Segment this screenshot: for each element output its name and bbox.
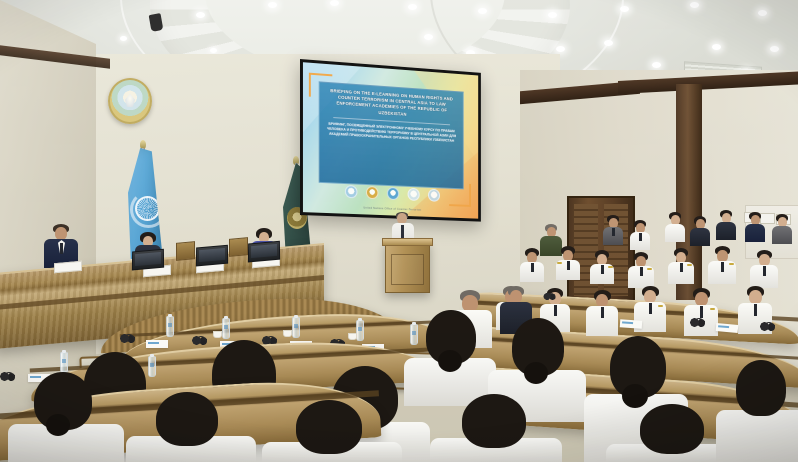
interpretation-headset[interactable] xyxy=(690,318,705,327)
downlight xyxy=(770,46,779,52)
downlight xyxy=(758,10,767,16)
audience-member-uniform xyxy=(556,246,580,280)
foreground-attendee xyxy=(430,394,562,462)
interpretation-headset[interactable] xyxy=(544,293,556,300)
downlight xyxy=(330,0,339,6)
downlight xyxy=(408,4,417,10)
drinking-glass xyxy=(283,330,292,337)
necktie xyxy=(567,261,570,270)
laptop[interactable] xyxy=(248,241,280,263)
torso xyxy=(665,224,685,242)
hair-bun xyxy=(438,350,462,372)
bottle-cap xyxy=(294,315,298,318)
foreground-attendee xyxy=(262,400,402,462)
epaulette xyxy=(647,268,652,270)
partner-logo-five-icon xyxy=(428,189,440,202)
downlight xyxy=(652,62,661,68)
necktie xyxy=(680,263,683,272)
lectern-panel xyxy=(391,254,424,285)
necktie xyxy=(554,305,557,316)
downlight xyxy=(210,48,217,53)
downlight xyxy=(196,12,205,18)
downlight xyxy=(556,46,565,52)
slide-text-panel: BRIEFING ON THE E-LEARNING ON HUMAN RIGH… xyxy=(319,81,464,189)
head xyxy=(695,292,708,306)
torso xyxy=(745,224,765,242)
conference-hall-photo: BRIEFING ON THE E-LEARNING ON HUMAN RIGH… xyxy=(0,0,798,462)
necktie xyxy=(754,304,757,316)
audience-member-uniform xyxy=(750,250,778,288)
necktie xyxy=(721,262,724,272)
table-frame xyxy=(176,241,195,261)
foreground-attendee xyxy=(716,360,798,462)
downlight xyxy=(712,44,721,50)
lectern-top xyxy=(382,238,433,246)
unodc-logo-icon xyxy=(386,187,398,200)
epaulette xyxy=(658,305,663,307)
un-emblem-logo-icon xyxy=(344,185,357,198)
hair xyxy=(640,404,704,454)
foreground-attendee xyxy=(8,372,124,462)
necktie xyxy=(531,263,534,272)
downlight xyxy=(604,40,613,46)
downlight xyxy=(424,34,433,40)
downlight xyxy=(548,12,557,18)
bottle-cap xyxy=(358,318,362,321)
slide-title-english: BRIEFING ON THE E-LEARNING ON HUMAN RIGH… xyxy=(326,88,458,121)
hair xyxy=(462,394,526,448)
audience-member xyxy=(690,216,710,246)
downlight xyxy=(620,6,629,12)
foreground-attendee xyxy=(404,310,496,406)
interpretation-headset[interactable] xyxy=(120,334,135,343)
necktie xyxy=(601,265,604,274)
gold-seal-logo-icon xyxy=(366,186,378,199)
necktie xyxy=(601,307,604,318)
torso xyxy=(772,226,792,244)
table-frame xyxy=(229,237,248,257)
audience-member-uniform xyxy=(586,290,618,336)
necktie xyxy=(60,243,63,254)
handout-document xyxy=(620,319,643,329)
bottle-cap xyxy=(168,314,172,317)
hair xyxy=(736,360,786,416)
audience-member xyxy=(716,210,736,240)
handout-document xyxy=(146,340,168,348)
necktie xyxy=(612,228,615,236)
partner-logo-four-icon xyxy=(407,188,419,201)
downlight xyxy=(268,2,277,8)
drinking-glass xyxy=(213,331,222,338)
necktie xyxy=(700,306,703,318)
hair xyxy=(296,400,362,454)
epaulette xyxy=(710,308,715,310)
necktie xyxy=(639,233,642,241)
audience-member xyxy=(665,212,685,242)
uzbekistan-state-emblem-icon xyxy=(108,78,152,124)
downlight xyxy=(478,8,487,14)
audience-member xyxy=(745,212,765,242)
torso xyxy=(690,228,710,246)
downlight xyxy=(120,36,127,41)
drinking-glass xyxy=(348,333,357,340)
interpretation-headset[interactable] xyxy=(760,322,775,331)
audience-member-uniform xyxy=(590,250,614,284)
projector-screen: BRIEFING ON THE E-LEARNING ON HUMAN RIGH… xyxy=(300,59,481,222)
audience-member xyxy=(630,220,650,250)
head xyxy=(749,290,762,304)
laptop[interactable] xyxy=(132,249,164,271)
epaulette xyxy=(729,263,734,265)
downlight xyxy=(690,2,699,8)
slide-title-russian: БРИФИНГ, ПОСВЯЩЕННЫЙ ЭЛЕКТРОННОМУ УЧЕБНО… xyxy=(326,121,458,144)
audience-member-uniform xyxy=(684,288,718,336)
torso xyxy=(716,222,736,240)
lectern xyxy=(385,241,430,293)
audience-member xyxy=(603,215,623,245)
foreground-attendee xyxy=(126,392,256,462)
laptop[interactable] xyxy=(196,245,228,267)
hair-bun xyxy=(524,362,548,384)
epaulette xyxy=(608,266,613,268)
hair-bun xyxy=(46,414,70,436)
necktie xyxy=(649,303,652,314)
audience-member-uniform xyxy=(628,252,654,288)
epaulette xyxy=(557,262,562,264)
hair xyxy=(156,392,218,446)
audience-member-uniform xyxy=(668,248,694,284)
audience-member xyxy=(772,214,792,244)
epaulette xyxy=(687,264,692,266)
un-globe-icon xyxy=(135,196,160,221)
necktie xyxy=(763,266,766,276)
bottle-cap xyxy=(224,316,228,319)
torso xyxy=(716,410,798,462)
audience-member-uniform xyxy=(520,248,544,282)
audience-member-uniform xyxy=(708,246,736,284)
necktie xyxy=(640,267,643,276)
projected-slide: BRIEFING ON THE E-LEARNING ON HUMAN RIGH… xyxy=(303,62,478,218)
